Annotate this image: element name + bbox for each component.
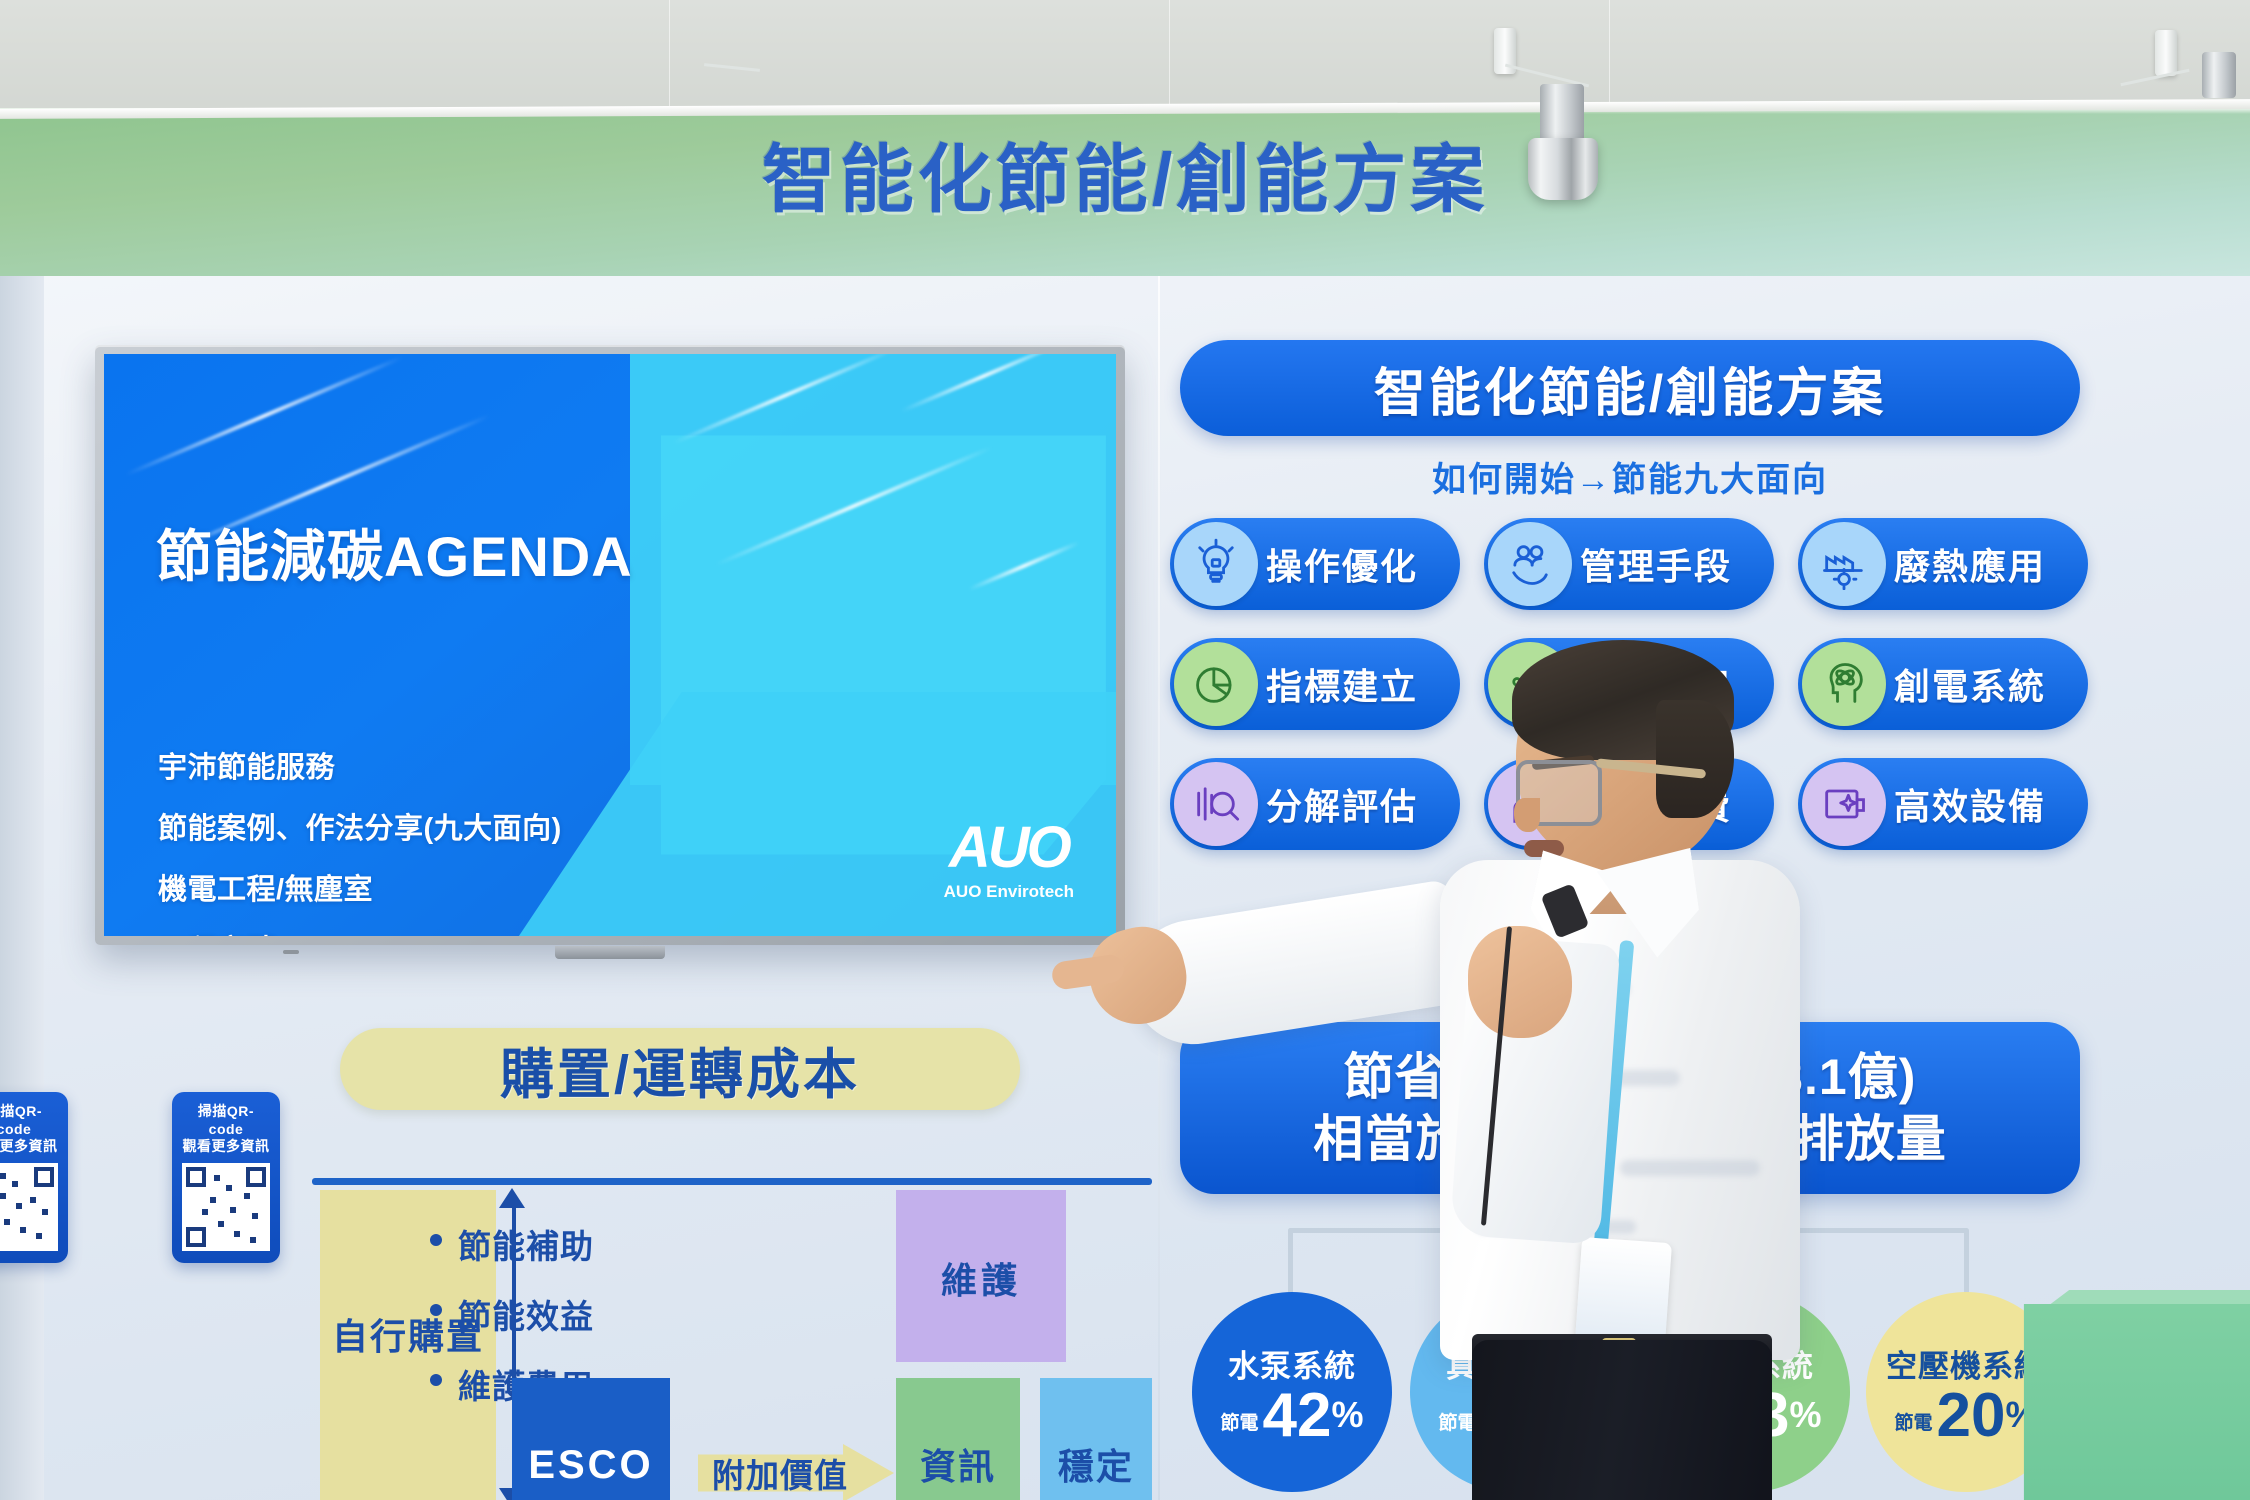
agenda-item: 節能案例、作法分享(九大面向) [158,815,718,844]
chart-top-line [312,1178,1152,1185]
auo-logo-mark: AUO [944,819,1074,877]
pill-decomposition-evaluation[interactable]: 分解評估 [1170,758,1460,850]
bullet-item: 節能效益 [430,1290,594,1338]
pie-chart-icon [1174,642,1258,726]
wall-seam [1158,276,1160,1500]
auo-logo-subtitle: AUO Envirotech [944,882,1074,902]
qr-card-left[interactable]: 掃描QR-code 觀看更多資訊 [0,1092,68,1263]
pill-waste-heat-application[interactable]: 廢熱應用 [1798,518,2088,610]
pill-label: 指標建立 [1266,658,1418,710]
tv-stand [555,946,665,959]
venue-banner-title: 智能化節能/創能方案 [0,120,2250,227]
tv-power-led [283,950,299,954]
pill-index-establishment[interactable]: 指標建立 [1170,638,1460,730]
bullet-item: 節能補助 [430,1220,594,1268]
presenter [1420,640,1840,1500]
pill-label: 高效設備 [1894,778,2046,830]
qr-card-right[interactable]: 掃描QR-code 觀看更多資訊 [172,1092,280,1263]
tv-screen: 節能減碳AGENDA 宇沛節能服務 節能案例、作法分享(九大面向) 機電工程/無… [104,354,1116,936]
qr-caption-line1: 掃描QR-code [182,1103,270,1138]
pill-label: 創電系統 [1894,658,2046,710]
lightbulb-icon [1174,522,1258,606]
slide-title: 節能減碳AGENDA [156,512,633,593]
green-display-block [1988,1282,2250,1500]
cost-section-header: 購置/運轉成本 [340,1028,1020,1110]
bubble-prefix: 節電 [1895,1415,1933,1433]
bar-information: 資訊 [896,1378,1020,1500]
bar-label-information: 資訊 [920,1446,996,1487]
poster-subtitle: 如何開始→節能九大面向 [1180,452,2080,501]
pill-label: 操作優化 [1266,538,1418,590]
presenter-nose [1514,798,1540,832]
bubble-value: 42 [1263,1388,1332,1444]
auo-logo: AUO AUO Envirotech [944,819,1074,902]
cost-section-title: 購置/運轉成本 [500,1030,860,1109]
qr-caption-line2: 觀看更多資訊 [0,1138,58,1156]
bubble-prefix: 節電 [1221,1415,1259,1433]
pill-label: 廢熱應用 [1894,538,2046,590]
pill-operation-optimization[interactable]: 操作優化 [1170,518,1460,610]
pill-power-generation-system[interactable]: 創電系統 [1798,638,2088,730]
poster-header-title: 智能化節能/創能方案 [1374,351,1886,426]
bar-label-maintenance: 維護 [941,1260,1021,1301]
people-hand-icon [1488,522,1572,606]
bar-stability: 穩定 [1040,1378,1152,1500]
presenter-right-hand [1468,926,1572,1038]
pill-high-efficiency-equipment[interactable]: 高效設備 [1798,758,2088,850]
magnifier-data-icon [1174,762,1258,846]
presentation-tv: 節能減碳AGENDA 宇沛節能服務 節能案例、作法分享(九大面向) 機電工程/無… [95,345,1125,945]
qr-code-image [0,1163,58,1251]
bubble-water-pump: 水泵系統 節電 42 % [1192,1292,1392,1492]
poster-header: 智能化節能/創能方案 [1180,340,2080,436]
presenter-trousers [1472,1340,1772,1500]
qr-code-image [182,1163,270,1251]
bubble-unit: % [1331,1394,1363,1436]
added-value-tag: 附加價值 [698,1444,894,1500]
bar-maintenance: 維護 [896,1190,1066,1362]
agenda-item: 宇沛節能服務 [158,754,718,783]
exhibition-booth-scene: 智能化節能/創能方案 節能減碳AGENDA 宇沛節能服 [0,0,2250,1500]
wall-left-edge [0,276,44,1500]
bar-esco: ESCO [512,1378,670,1500]
bubble-name: 水泵系統 [1228,1341,1356,1386]
factory-gear-icon [1802,522,1886,606]
pill-management-method[interactable]: 管理手段 [1484,518,1774,610]
cost-comparison-chart: 自行購置 節能補助 節能效益 維護費用 ESCO 附加價值 維 [312,1178,1152,1500]
pill-label: 管理手段 [1580,538,1732,590]
qr-caption-line1: 掃描QR-code [0,1103,58,1138]
qr-caption-line2: 觀看更多資訊 [182,1138,270,1156]
slide-agenda-list: 宇沛節能服務 節能案例、作法分享(九大面向) 機電工程/無塵室 工程實蹟 [158,754,718,936]
arrow-up-head [499,1188,525,1208]
bar-label-stability: 穩定 [1058,1446,1134,1487]
agenda-item: 機電工程/無塵室 [158,876,718,905]
added-value-label: 附加價值 [698,1449,848,1497]
pill-label: 分解評估 [1266,778,1418,830]
bar-label-esco: ESCO [528,1443,653,1487]
